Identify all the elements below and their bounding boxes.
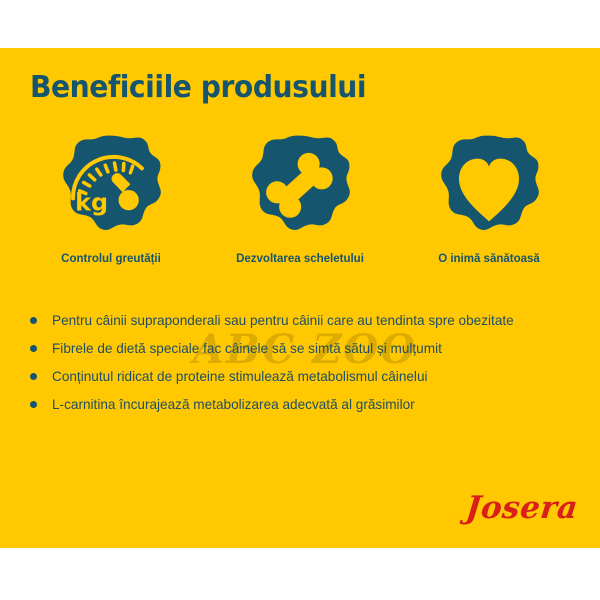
benefits-icon-row: kg Controlul greutății bbox=[20, 133, 580, 265]
benefits-banner: ABC ZOO Beneficiile produsului bbox=[0, 48, 600, 548]
list-item: Conținutul ridicat de proteine stimuleaz… bbox=[26, 367, 542, 386]
bone-icon bbox=[247, 133, 353, 239]
bullet-dot-icon bbox=[30, 345, 37, 352]
svg-text:kg: kg bbox=[75, 189, 108, 217]
benefit-label: Dezvoltarea scheletului bbox=[236, 253, 364, 265]
benefit-item-heart: O inimă sănătoasă bbox=[398, 133, 580, 265]
benefit-item-skeleton: Dezvoltarea scheletului bbox=[209, 133, 391, 265]
bullet-dot-icon bbox=[30, 373, 37, 380]
list-item-text: L-carnitina încurajează metabolizarea ad… bbox=[52, 397, 415, 412]
page-title: Beneficiile produsului bbox=[30, 70, 366, 105]
list-item-text: Fibrele de dietă speciale fac câinele să… bbox=[52, 341, 442, 356]
benefits-bullet-list: Pentru câinii supraponderali sau pentru … bbox=[26, 311, 542, 423]
list-item: L-carnitina încurajează metabolizarea ad… bbox=[26, 395, 542, 414]
bullet-dot-icon bbox=[30, 317, 37, 324]
list-item: Pentru câinii supraponderali sau pentru … bbox=[26, 311, 542, 330]
benefit-item-weight-control: kg Controlul greutății bbox=[20, 133, 202, 265]
list-item-text: Pentru câinii supraponderali sau pentru … bbox=[52, 313, 514, 328]
list-item-text: Conținutul ridicat de proteine stimuleaz… bbox=[52, 369, 428, 384]
brand-logo: Josera bbox=[464, 490, 580, 526]
benefit-label: O inimă sănătoasă bbox=[438, 253, 540, 265]
benefit-label: Controlul greutății bbox=[61, 253, 161, 265]
weight-scale-icon: kg bbox=[58, 133, 164, 239]
bullet-dot-icon bbox=[30, 401, 37, 408]
heart-icon bbox=[436, 133, 542, 239]
list-item: Fibrele de dietă speciale fac câinele să… bbox=[26, 339, 542, 358]
